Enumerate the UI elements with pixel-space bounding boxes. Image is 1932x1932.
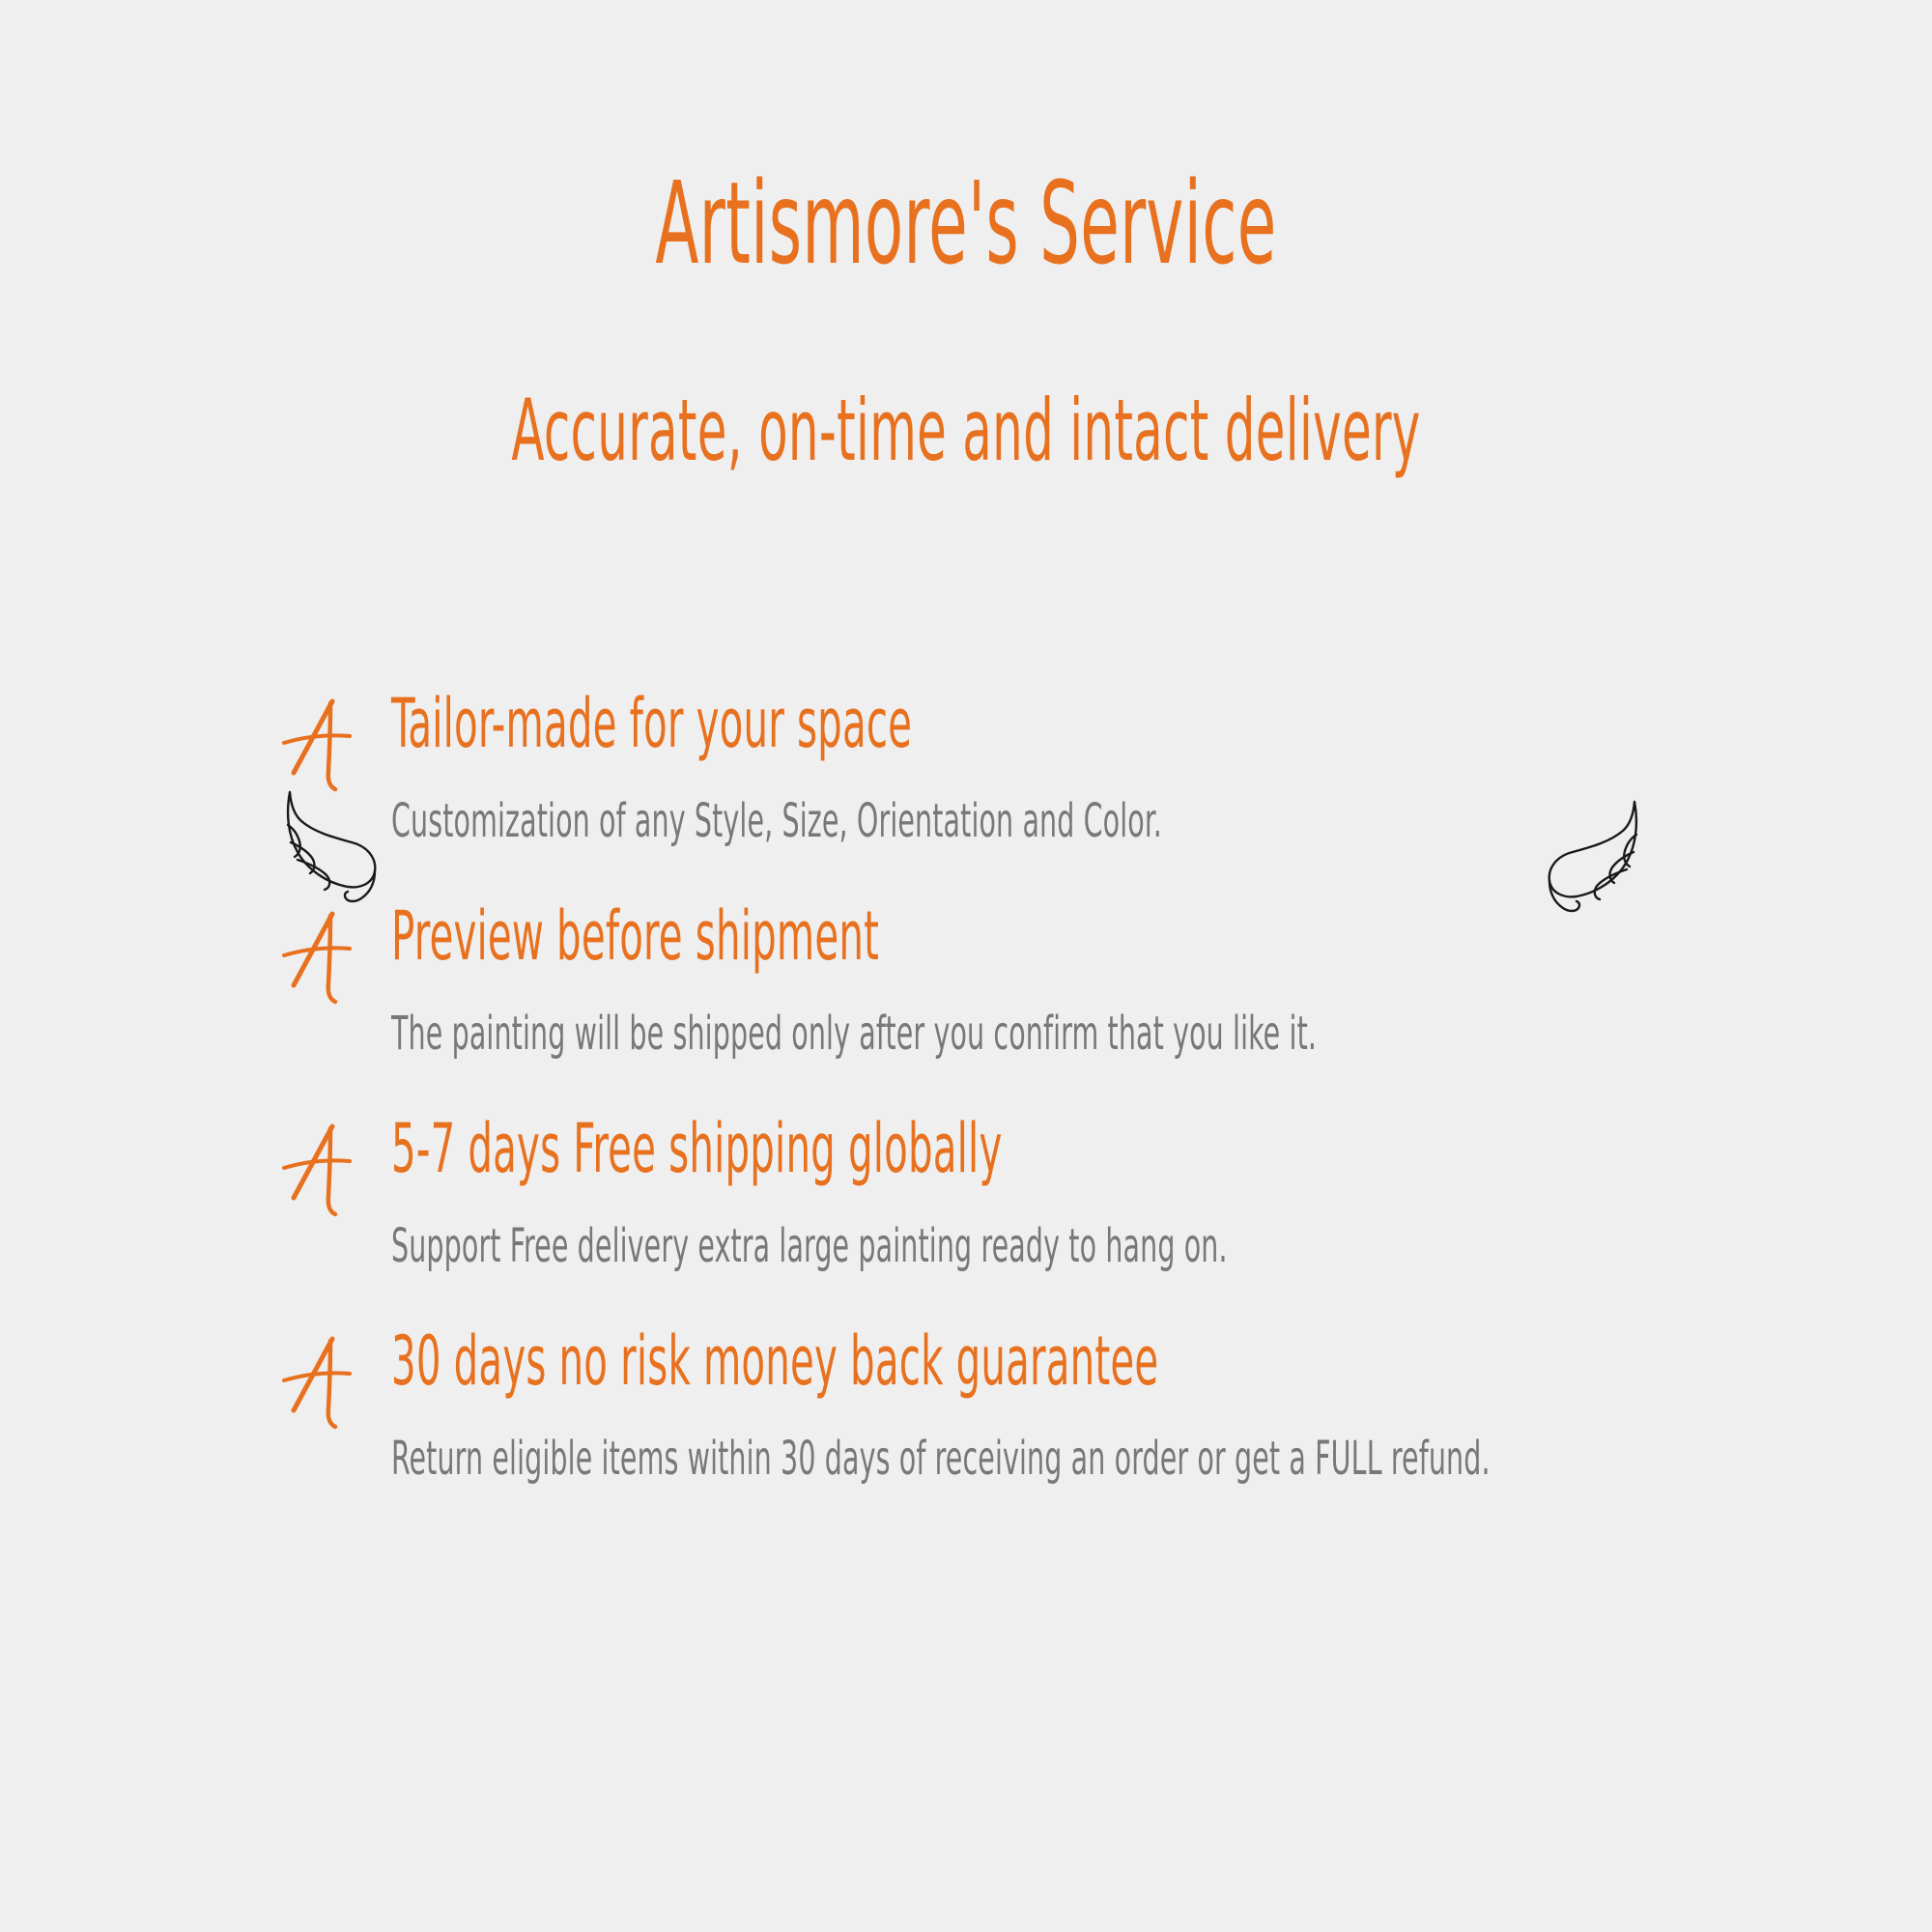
script-a-icon <box>278 1122 361 1219</box>
feature-heading: Preview before shipment <box>391 900 879 974</box>
page-title: Artismore's Service <box>367 164 1565 284</box>
feature-description: The painting will be shipped only after … <box>391 1009 1317 1060</box>
script-a-icon <box>278 910 361 1007</box>
service-infographic: Artismore's Service Accurate, on-time an… <box>0 0 1932 1932</box>
subtitle-text: Accurate, on-time and intact delivery <box>357 386 1575 475</box>
feature-item: 5-7 days Free shipping globally Support … <box>0 1113 1932 1325</box>
feature-item: Tailor-made for your space Customization… <box>0 688 1932 900</box>
script-a-icon <box>278 1335 361 1432</box>
script-a-icon <box>278 697 361 794</box>
feature-description: Customization of any Style, Size, Orient… <box>391 796 1162 847</box>
feature-item: Preview before shipment The painting wil… <box>0 900 1932 1113</box>
feature-description: Return eligible items within 30 days of … <box>391 1434 1491 1485</box>
feature-description: Support Free delivery extra large painti… <box>391 1221 1228 1272</box>
subtitle-row: Accurate, on-time and intact delivery <box>0 386 1932 551</box>
feature-item: 30 days no risk money back guarantee Ret… <box>0 1325 1932 1538</box>
feature-list: Tailor-made for your space Customization… <box>0 688 1932 1538</box>
feature-heading: 30 days no risk money back guarantee <box>391 1325 1158 1399</box>
feature-heading: 5-7 days Free shipping globally <box>391 1113 1002 1186</box>
feature-heading: Tailor-made for your space <box>391 688 912 761</box>
